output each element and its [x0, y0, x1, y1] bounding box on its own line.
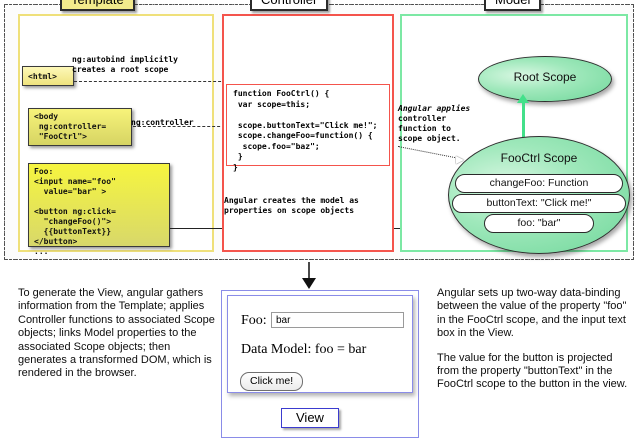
view-arrow-head [302, 278, 316, 289]
view-click-me-button[interactable]: Click me! [240, 372, 303, 391]
body-tag-box: <body ng:controller= "FooCtrl"> [28, 108, 132, 146]
view-data-model-text: Data Model: foo = bar [241, 342, 366, 358]
creates-model-annotation: Angular creates the model as properties … [224, 196, 359, 216]
right-paragraph-two: The value for the button is projected fr… [437, 352, 633, 392]
template-markup-box: Foo: <input name="foo" value="bar" > <bu… [28, 163, 170, 247]
left-explanation-paragraph: To generate the View, angular gathers in… [18, 287, 216, 381]
right-explanation-paragraphs: Angular sets up two-way data-binding bet… [437, 287, 633, 403]
right-paragraph-one: Angular sets up two-way data-binding bet… [437, 287, 633, 341]
scope-inheritance-arrowhead [517, 94, 529, 103]
view-foo-input[interactable] [271, 312, 404, 328]
view-foo-label: Foo: [241, 313, 267, 329]
applies-controller-annotation: Angular applies controller function to s… [398, 104, 470, 144]
applies-controller-rest: controller function to scope object. [398, 114, 461, 143]
root-scope-label: Root Scope [514, 70, 577, 84]
template-panel-title: Template [60, 0, 135, 11]
scope-property-buttontext: buttonText: "Click me!" [452, 194, 626, 213]
autobind-annotation: ng:autobind implicitly creates a root sc… [72, 55, 178, 75]
fooctrl-scope-label: FooCtrl Scope [501, 151, 578, 165]
html-tag-box: <html> [22, 66, 74, 86]
view-panel-title: View [281, 408, 339, 428]
scope-property-changefoo: changeFoo: Function [455, 174, 623, 193]
ng-controller-connector [133, 126, 230, 127]
applies-controller-emphasis: Angular applies [398, 104, 470, 113]
model-panel-title: Model [484, 0, 541, 11]
controller-panel-title: Controller [250, 0, 328, 11]
root-scope-ellipse: Root Scope [478, 56, 612, 102]
controller-code-block: function FooCtrl() { var scope=this; sco… [226, 84, 390, 166]
scope-property-foo: foo: "bar" [484, 214, 594, 233]
scope-inheritance-connector [522, 100, 525, 140]
